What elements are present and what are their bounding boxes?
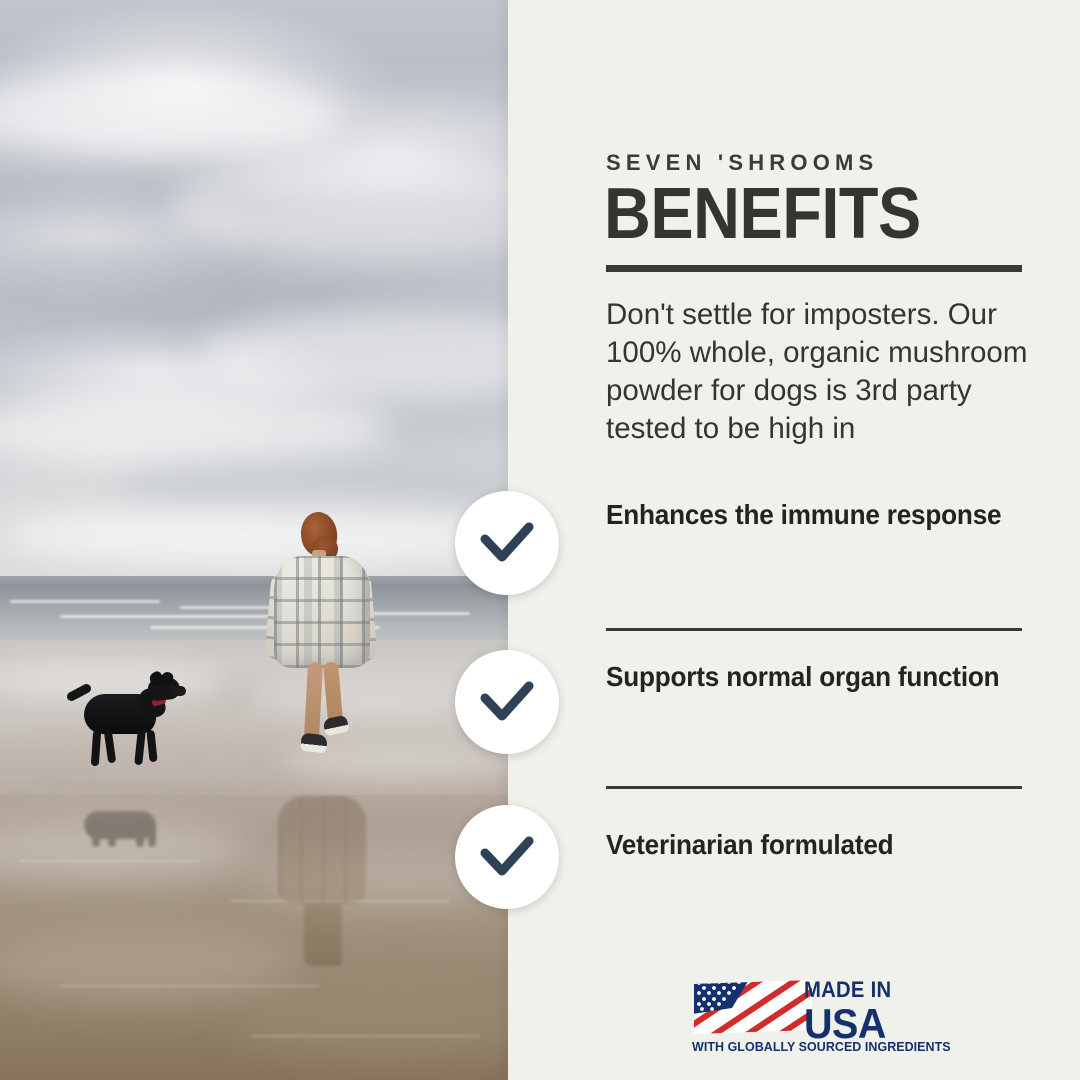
badge-tagline: WITH GLOBALLY SOURCED INGREDIENTS (692, 1040, 934, 1054)
dog-snout (170, 686, 186, 696)
woman-figure (268, 512, 378, 777)
benefit-label: Supports normal organ function (606, 660, 1013, 694)
ripple (60, 985, 320, 987)
benefit-check-badge-3 (455, 805, 559, 909)
usa-flag-icon (692, 978, 814, 1036)
dog-leg (91, 730, 101, 766)
reflection-shape (148, 824, 156, 847)
benefit-label: Veterinarian formulated (606, 828, 1013, 862)
shoe (322, 715, 349, 737)
usa-label: USA (804, 1003, 930, 1045)
ripple (20, 860, 200, 862)
wave (60, 615, 270, 618)
wave (10, 600, 160, 603)
benefit-check-badge-2 (455, 650, 559, 754)
reflection-shape (136, 821, 144, 847)
benefit-item-3: Veterinarian formulated (606, 828, 1034, 862)
benefit-label: Enhances the immune response (606, 498, 1013, 532)
leg (304, 662, 323, 741)
reflection-shape (304, 896, 342, 966)
benefit-divider (606, 628, 1022, 631)
dog-leg (104, 730, 117, 764)
check-icon (477, 519, 537, 567)
brand-eyebrow: SEVEN 'SHROOMS (606, 150, 878, 176)
benefit-item-1: Enhances the immune response (606, 498, 1034, 532)
cloud (0, 505, 508, 565)
check-icon (477, 833, 537, 881)
reflection-shape (278, 796, 366, 904)
reflection-shape (92, 821, 100, 847)
intro-paragraph: Don't settle for imposters. Our 100% who… (606, 296, 1036, 448)
benefit-check-badge-1 (455, 491, 559, 595)
shoe (300, 733, 328, 754)
benefit-divider (606, 786, 1022, 789)
content-panel: SEVEN 'SHROOMS BENEFITS Don't settle for… (508, 0, 1080, 1080)
benefit-item-2: Supports normal organ function (606, 660, 1034, 694)
title-rule (606, 265, 1022, 272)
reflection-shape (108, 823, 116, 847)
dog-leg (146, 730, 157, 763)
beach-photo (0, 0, 508, 1080)
check-icon (477, 678, 537, 726)
plaid-jacket (274, 556, 370, 668)
made-in-usa-text: MADE IN USA (804, 979, 938, 1039)
benefits-infographic: SEVEN 'SHROOMS BENEFITS Don't settle for… (0, 0, 1080, 1080)
dog-reflection (62, 777, 187, 847)
dog-figure (62, 672, 187, 777)
ripple (250, 1035, 480, 1037)
made-in-usa-badge: MADE IN USA WITH GLOBALLY SOURCED INGRED… (692, 978, 936, 1060)
dog-leg (134, 730, 146, 766)
woman-reflection (268, 776, 378, 966)
page-title: BENEFITS (604, 178, 921, 251)
made-in-label: MADE IN (804, 979, 927, 1001)
ocean (0, 576, 508, 646)
dog-tail (65, 682, 92, 702)
